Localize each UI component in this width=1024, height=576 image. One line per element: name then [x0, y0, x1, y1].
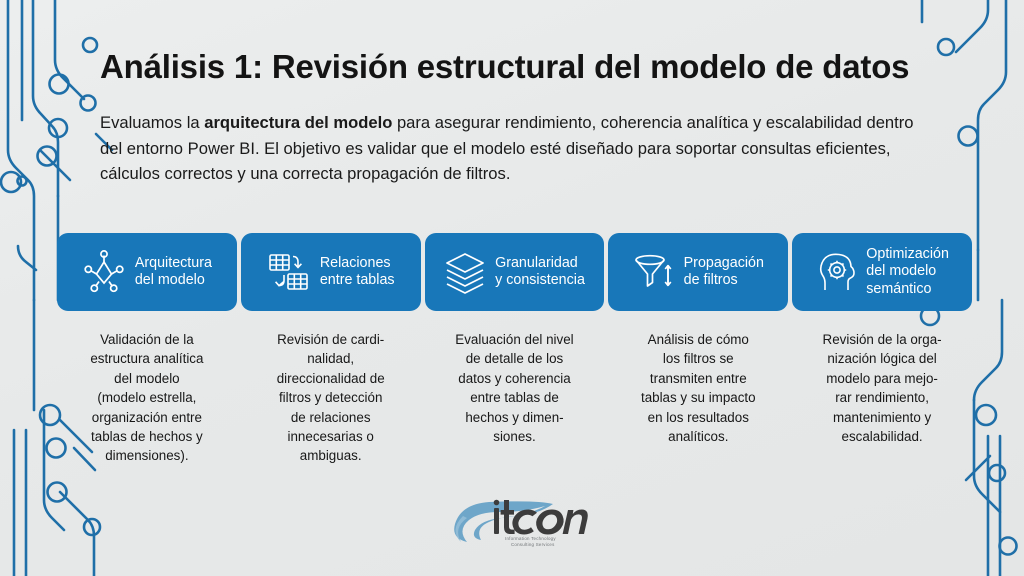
- card-label: Optimización del modelo semántico: [866, 246, 949, 299]
- head-gear-icon: [815, 250, 857, 294]
- card-chip-relaciones[interactable]: Relaciones entre tablas: [241, 233, 421, 311]
- logo-tagline-line-2: Consulting Services: [511, 542, 555, 547]
- intro-part-1: Evaluamos la: [100, 113, 204, 132]
- card-label: Granularidad y consistencia: [495, 255, 585, 290]
- card-label: Propagación de filtros: [684, 255, 764, 290]
- card-chip-propagacion[interactable]: Propagación de filtros: [608, 233, 788, 311]
- card-chip-granularidad[interactable]: Granularidad y consistencia: [425, 233, 605, 311]
- card-chip-optimizacion[interactable]: Optimización del modelo semántico: [792, 233, 972, 311]
- card-caption: Validación de la estructura analítica de…: [61, 330, 233, 466]
- intro-paragraph: Evaluamos la arquitectura del modelo par…: [100, 110, 920, 187]
- card-row: Arquitectura del modelo Validación de la…: [57, 233, 972, 466]
- table-relations-icon: [267, 251, 311, 293]
- card-caption: Revisión de cardi- nalidad, direccionali…: [245, 330, 417, 466]
- card-column: Arquitectura del modelo Validación de la…: [57, 233, 237, 466]
- intro-bold-phrase: arquitectura del modelo: [204, 113, 392, 132]
- card-column: Propagación de filtros Análisis de cómo …: [608, 233, 788, 466]
- card-column: Optimización del modelo semántico Revisi…: [792, 233, 972, 466]
- itcon-logo-mark: [441, 486, 591, 558]
- card-caption: Revisión de la orga- nización lógica del…: [796, 330, 968, 446]
- funnel-arrows-icon: [633, 250, 675, 294]
- page-title: Análisis 1: Revisión estructural del mod…: [100, 48, 909, 86]
- card-caption: Análisis de cómo los filtros se transmit…: [612, 330, 784, 446]
- card-label: Relaciones entre tablas: [320, 255, 395, 290]
- star-schema-icon: [82, 250, 126, 294]
- card-column: Relaciones entre tablas Revisión de card…: [241, 233, 421, 466]
- company-logo: Information Technology Consulting Servic…: [441, 486, 591, 558]
- slide-canvas: Análisis 1: Revisión estructural del mod…: [0, 0, 1024, 576]
- logo-tagline-line-1: Information Technology: [505, 536, 556, 541]
- card-chip-arquitectura[interactable]: Arquitectura del modelo: [57, 233, 237, 311]
- card-column: Granularidad y consistencia Evaluación d…: [425, 233, 605, 466]
- card-caption: Evaluación del nivel de detalle de los d…: [428, 330, 600, 446]
- stacked-layers-icon: [444, 250, 486, 294]
- card-label: Arquitectura del modelo: [135, 255, 212, 290]
